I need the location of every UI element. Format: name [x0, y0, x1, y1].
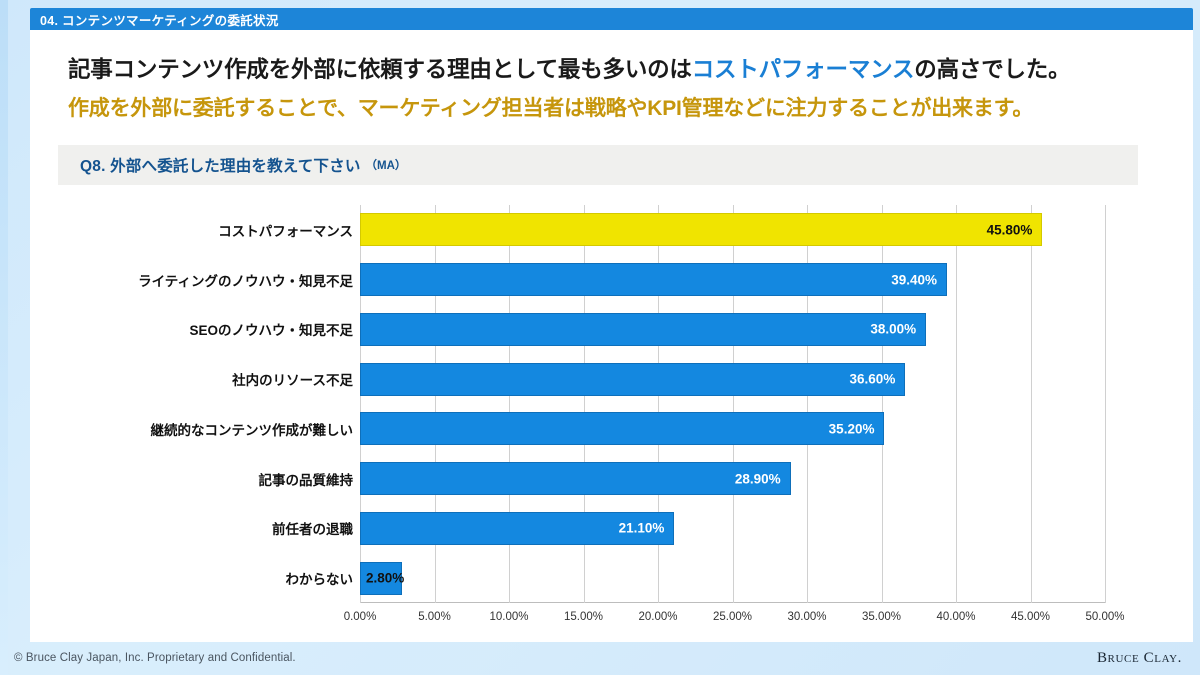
chart-bar[interactable]	[360, 213, 1042, 246]
chart-bar[interactable]	[360, 363, 905, 396]
headline-before: 記事コンテンツ作成を外部に依頼する理由として最も多いのは	[68, 57, 692, 82]
chart-bar[interactable]	[360, 462, 791, 495]
chart-bar[interactable]	[360, 263, 947, 296]
x-axis-tick-label: 15.00%	[564, 611, 603, 623]
category-label: ライティングのノウハウ・知見不足	[138, 270, 353, 290]
chart-bar-row: 社内のリソース不足36.60%	[360, 363, 1105, 396]
bar-value-label: 2.80%	[366, 571, 404, 586]
bar-value-label: 35.20%	[829, 421, 875, 436]
chart-bar[interactable]	[360, 313, 926, 346]
category-label: 前任者の退職	[272, 518, 353, 538]
footer-copyright: © Bruce Clay Japan, Inc. Proprietary and…	[14, 652, 296, 664]
chart-gridline	[1105, 205, 1106, 603]
x-axis-tick-label: 20.00%	[638, 611, 677, 623]
content-card: 記事コンテンツ作成を外部に依頼する理由として最も多いのはコストパフォーマンスの高…	[30, 30, 1193, 642]
category-label: 記事の品質維持	[259, 469, 354, 489]
x-axis-tick-label: 35.00%	[862, 611, 901, 623]
chart-bar-row: コストパフォーマンス45.80%	[360, 213, 1105, 246]
x-axis-tick-label: 5.00%	[418, 611, 451, 623]
headline: 記事コンテンツ作成を外部に依頼する理由として最も多いのはコストパフォーマンスの高…	[68, 52, 1168, 84]
headline-after: の高さでした。	[914, 57, 1070, 82]
left-accent-rail	[0, 0, 8, 675]
chart-bar-row: 継続的なコンテンツ作成が難しい35.20%	[360, 412, 1105, 445]
category-label: 継続的なコンテンツ作成が難しい	[151, 419, 354, 439]
chart-bar-row: わからない2.80%	[360, 562, 1105, 595]
headline-highlight: コストパフォーマンス	[692, 57, 915, 82]
category-label: わからない	[286, 568, 354, 588]
x-axis-tick-label: 25.00%	[713, 611, 752, 623]
chart-bar-row: ライティングのノウハウ・知見不足39.40%	[360, 263, 1105, 296]
bar-value-label: 21.10%	[619, 521, 665, 536]
bar-value-label: 28.90%	[735, 471, 781, 486]
section-tab-label[interactable]: 04. コンテンツマーケティングの委託状況	[30, 8, 291, 30]
question-title: Q8. 外部へ委託した理由を教えて下さい	[58, 154, 361, 176]
x-axis-tick-label: 50.00%	[1085, 611, 1124, 623]
chart-bar-row: 前任者の退職21.10%	[360, 512, 1105, 545]
chart-bar-row: 記事の品質維持28.90%	[360, 462, 1105, 495]
chart-plot-area: 0.00%5.00%10.00%15.00%20.00%25.00%30.00%…	[360, 205, 1105, 603]
bar-value-label: 38.00%	[870, 322, 916, 337]
category-label: SEOのノウハウ・知見不足	[189, 319, 353, 339]
bar-value-label: 36.60%	[850, 372, 896, 387]
section-tab-bar: 04. コンテンツマーケティングの委託状況	[30, 8, 1193, 30]
x-axis-tick-label: 0.00%	[344, 611, 377, 623]
brand-logo: Bruce Clay.	[1097, 650, 1182, 667]
x-axis-tick-label: 10.00%	[489, 611, 528, 623]
x-axis-tick-label: 45.00%	[1011, 611, 1050, 623]
bar-value-label: 45.80%	[987, 222, 1033, 237]
category-label: 社内のリソース不足	[232, 369, 353, 389]
chart-bar-row: SEOのノウハウ・知見不足38.00%	[360, 313, 1105, 346]
chart-bar[interactable]	[360, 412, 884, 445]
subheadline: 作成を外部に委託することで、マーケティング担当者は戦略やKPI管理などに注力する…	[68, 92, 1178, 122]
question-note: （MA）	[366, 157, 407, 173]
bar-value-label: 39.40%	[891, 272, 937, 287]
x-axis-tick-label: 40.00%	[936, 611, 975, 623]
question-band: Q8. 外部へ委託した理由を教えて下さい （MA）	[58, 145, 1138, 185]
category-label: コストパフォーマンス	[218, 220, 353, 240]
x-axis-tick-label: 30.00%	[787, 611, 826, 623]
bar-chart: 0.00%5.00%10.00%15.00%20.00%25.00%30.00%…	[30, 195, 1193, 645]
slide-background: 04. コンテンツマーケティングの委託状況 記事コンテンツ作成を外部に依頼する理…	[0, 0, 1200, 675]
